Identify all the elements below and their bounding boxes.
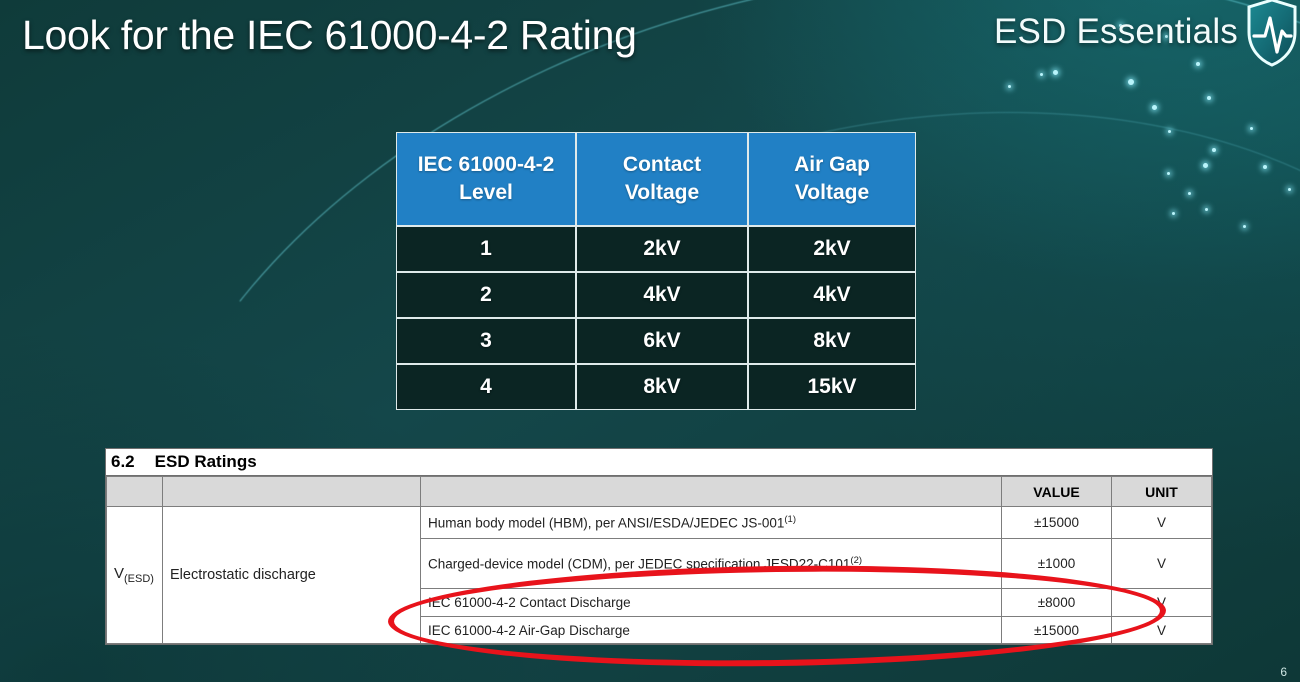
cell-value: ±8000 (1002, 589, 1112, 617)
symbol-subscript: (ESD) (124, 573, 154, 585)
slide-title: Look for the IEC 61000-4-2 Rating (22, 12, 637, 59)
particle-dot (1196, 62, 1200, 66)
cell-symbol: V(ESD) (107, 507, 163, 644)
section-title: ESD Ratings (155, 452, 257, 472)
table-row: 4 8kV 15kV (396, 364, 916, 410)
header-line: IEC 61000-4-2 (418, 153, 555, 176)
brand-label: ESD Essentials (994, 12, 1238, 52)
description-text: Charged-device model (CDM), per JEDEC sp… (428, 557, 850, 572)
shield-heartbeat-icon (1246, 0, 1298, 68)
datasheet-esd-ratings: 6.2 ESD Ratings VALUE UNIT V(ESD) (105, 448, 1213, 645)
particle-dot (1207, 96, 1211, 100)
header-spacer (421, 477, 1002, 507)
particle-dot (1263, 165, 1267, 169)
particle-dot (1212, 148, 1216, 152)
cell-description: IEC 61000-4-2 Contact Discharge (421, 589, 1002, 617)
header-spacer (163, 477, 421, 507)
slide-canvas: Look for the IEC 61000-4-2 Rating ESD Es… (0, 0, 1300, 682)
cell-level: 4 (396, 364, 576, 410)
header-line: Level (459, 181, 513, 204)
column-header-unit: UNIT (1112, 477, 1212, 507)
cell-air-gap: 4kV (748, 272, 916, 318)
column-header-level: IEC 61000-4-2 Level (396, 132, 576, 226)
particle-dot (1040, 73, 1043, 76)
cell-description: Charged-device model (CDM), per JEDEC sp… (421, 539, 1002, 589)
column-header-air-gap-voltage: Air Gap Voltage (748, 132, 916, 226)
particle-dot (1288, 188, 1291, 191)
particle-dot (1128, 79, 1134, 85)
cell-value: ±15000 (1002, 617, 1112, 644)
symbol-base: V (114, 565, 124, 582)
footnote-marker: (1) (784, 514, 796, 525)
table-row: 1 2kV 2kV (396, 226, 916, 272)
cell-unit: V (1112, 589, 1212, 617)
cell-unit: V (1112, 617, 1212, 644)
particle-dot (1168, 130, 1171, 133)
particle-dot (1243, 225, 1246, 228)
cell-air-gap: 8kV (748, 318, 916, 364)
particle-dot (1008, 85, 1011, 88)
cell-level: 2 (396, 272, 576, 318)
cell-description: Human body model (HBM), per ANSI/ESDA/JE… (421, 507, 1002, 539)
particle-dot (1053, 70, 1058, 75)
table-header-row: VALUE UNIT (107, 477, 1212, 507)
cell-contact: 6kV (576, 318, 748, 364)
cell-parameter: Electrostatic discharge (163, 507, 421, 644)
table-row: V(ESD) Electrostatic discharge Human bod… (107, 507, 1212, 539)
column-header-contact-voltage: Contact Voltage (576, 132, 748, 226)
header-line: Voltage (795, 181, 869, 204)
cell-contact: 8kV (576, 364, 748, 410)
particle-dot (1188, 192, 1191, 195)
cell-value: ±1000 (1002, 539, 1112, 589)
particle-dot (1152, 105, 1157, 110)
description-text: Human body model (HBM), per ANSI/ESDA/JE… (428, 516, 784, 531)
cell-level: 1 (396, 226, 576, 272)
iec-level-table: IEC 61000-4-2 Level Contact Voltage Air … (396, 132, 916, 410)
cell-unit: V (1112, 539, 1212, 589)
particle-dot (1205, 208, 1208, 211)
particle-dot (1203, 163, 1208, 168)
header-line: Voltage (625, 181, 699, 204)
cell-value: ±15000 (1002, 507, 1112, 539)
cell-contact: 2kV (576, 226, 748, 272)
cell-level: 3 (396, 318, 576, 364)
footnote-marker: (2) (850, 555, 862, 566)
section-number: 6.2 (111, 452, 135, 472)
table-header-row: IEC 61000-4-2 Level Contact Voltage Air … (396, 132, 916, 226)
cell-description: IEC 61000-4-2 Air-Gap Discharge (421, 617, 1002, 644)
particle-dot (1167, 172, 1170, 175)
header-spacer (107, 477, 163, 507)
table-row: 2 4kV 4kV (396, 272, 916, 318)
particle-dot (1172, 212, 1175, 215)
header-line: Air Gap (794, 153, 870, 176)
datasheet-section-header: 6.2 ESD Ratings (106, 449, 1212, 476)
esd-ratings-table: VALUE UNIT V(ESD) Electrostatic discharg… (106, 476, 1212, 644)
cell-air-gap: 15kV (748, 364, 916, 410)
cell-air-gap: 2kV (748, 226, 916, 272)
cell-contact: 4kV (576, 272, 748, 318)
column-header-value: VALUE (1002, 477, 1112, 507)
table-row: 3 6kV 8kV (396, 318, 916, 364)
header-line: Contact (623, 153, 701, 176)
particle-dot (1250, 127, 1253, 130)
cell-unit: V (1112, 507, 1212, 539)
page-number: 6 (1280, 665, 1287, 679)
